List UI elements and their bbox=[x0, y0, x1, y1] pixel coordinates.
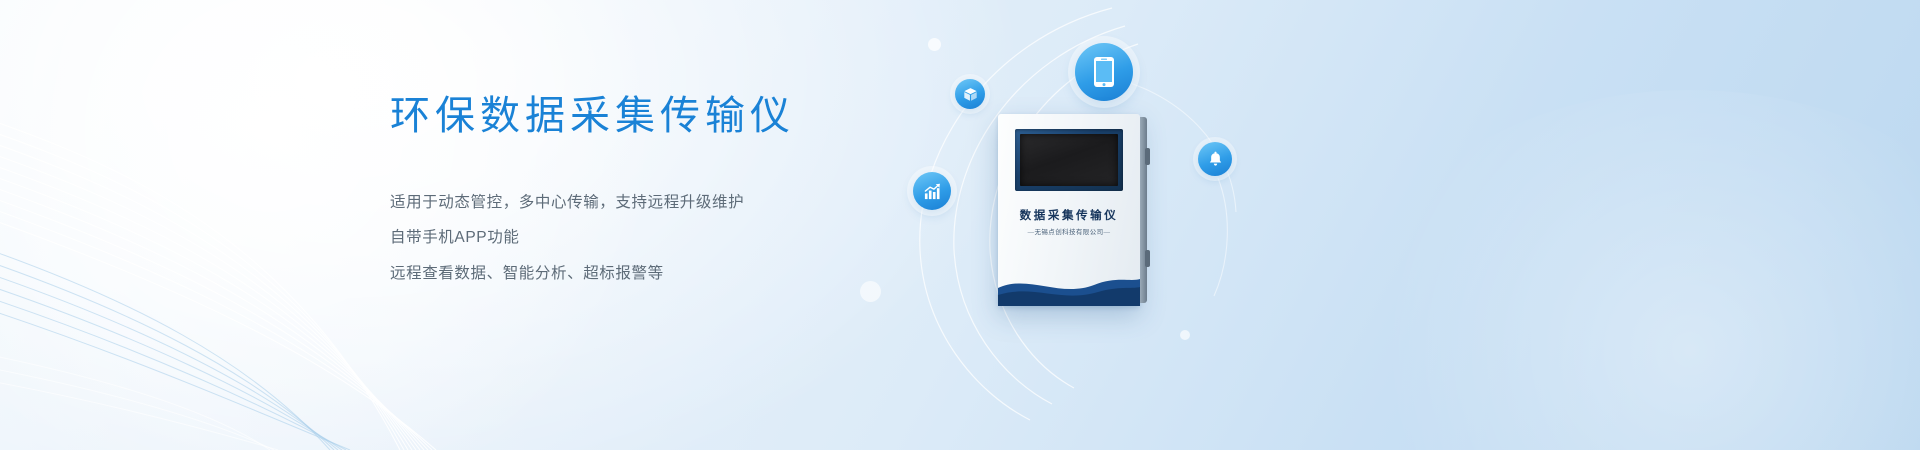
description-line-2: 自带手机APP功能 bbox=[390, 227, 910, 249]
bell-icon-chip[interactable] bbox=[1198, 142, 1232, 176]
box-icon-chip[interactable] bbox=[955, 79, 985, 109]
decorative-bubble bbox=[860, 281, 881, 302]
phone-icon bbox=[1093, 56, 1115, 88]
chart-icon-chip[interactable] bbox=[913, 172, 951, 210]
bell-icon bbox=[1207, 151, 1224, 168]
device-screen-bezel bbox=[1015, 129, 1123, 191]
banner-copy: 环保数据采集传输仪 适用于动态管控，多中心传输，支持远程升级维护 自带手机APP… bbox=[390, 92, 910, 298]
description-line-3: 远程查看数据、智能分析、超标报警等 bbox=[390, 263, 910, 285]
device-side-edge bbox=[1140, 117, 1147, 303]
product-scene: 数据采集传输仪 —无锡点创科技有限公司— bbox=[880, 0, 1440, 450]
banner-description: 适用于动态管控，多中心传输，支持远程升级维护 自带手机APP功能 远程查看数据、… bbox=[390, 192, 910, 285]
orbit-arcs bbox=[880, 0, 1440, 450]
chart-icon bbox=[923, 182, 942, 201]
decorative-bubble bbox=[1180, 330, 1190, 340]
description-line-1: 适用于动态管控，多中心传输，支持远程升级维护 bbox=[390, 192, 910, 214]
phone-icon-chip[interactable] bbox=[1075, 43, 1133, 101]
banner-title: 环保数据采集传输仪 bbox=[390, 92, 910, 140]
device-brand-text: 数据采集传输仪 bbox=[998, 207, 1140, 223]
device-company-text: —无锡点创科技有限公司— bbox=[998, 226, 1140, 236]
device-cabinet: 数据采集传输仪 —无锡点创科技有限公司— bbox=[998, 114, 1140, 306]
device-wave-graphic bbox=[998, 258, 1140, 306]
product-banner: 环保数据采集传输仪 适用于动态管控，多中心传输，支持远程升级维护 自带手机APP… bbox=[0, 0, 1920, 450]
box-icon bbox=[963, 87, 978, 102]
decorative-bubble bbox=[928, 38, 941, 51]
device-connector bbox=[1145, 148, 1150, 165]
device-lcd-display bbox=[1020, 134, 1118, 186]
device-connector bbox=[1145, 250, 1150, 267]
